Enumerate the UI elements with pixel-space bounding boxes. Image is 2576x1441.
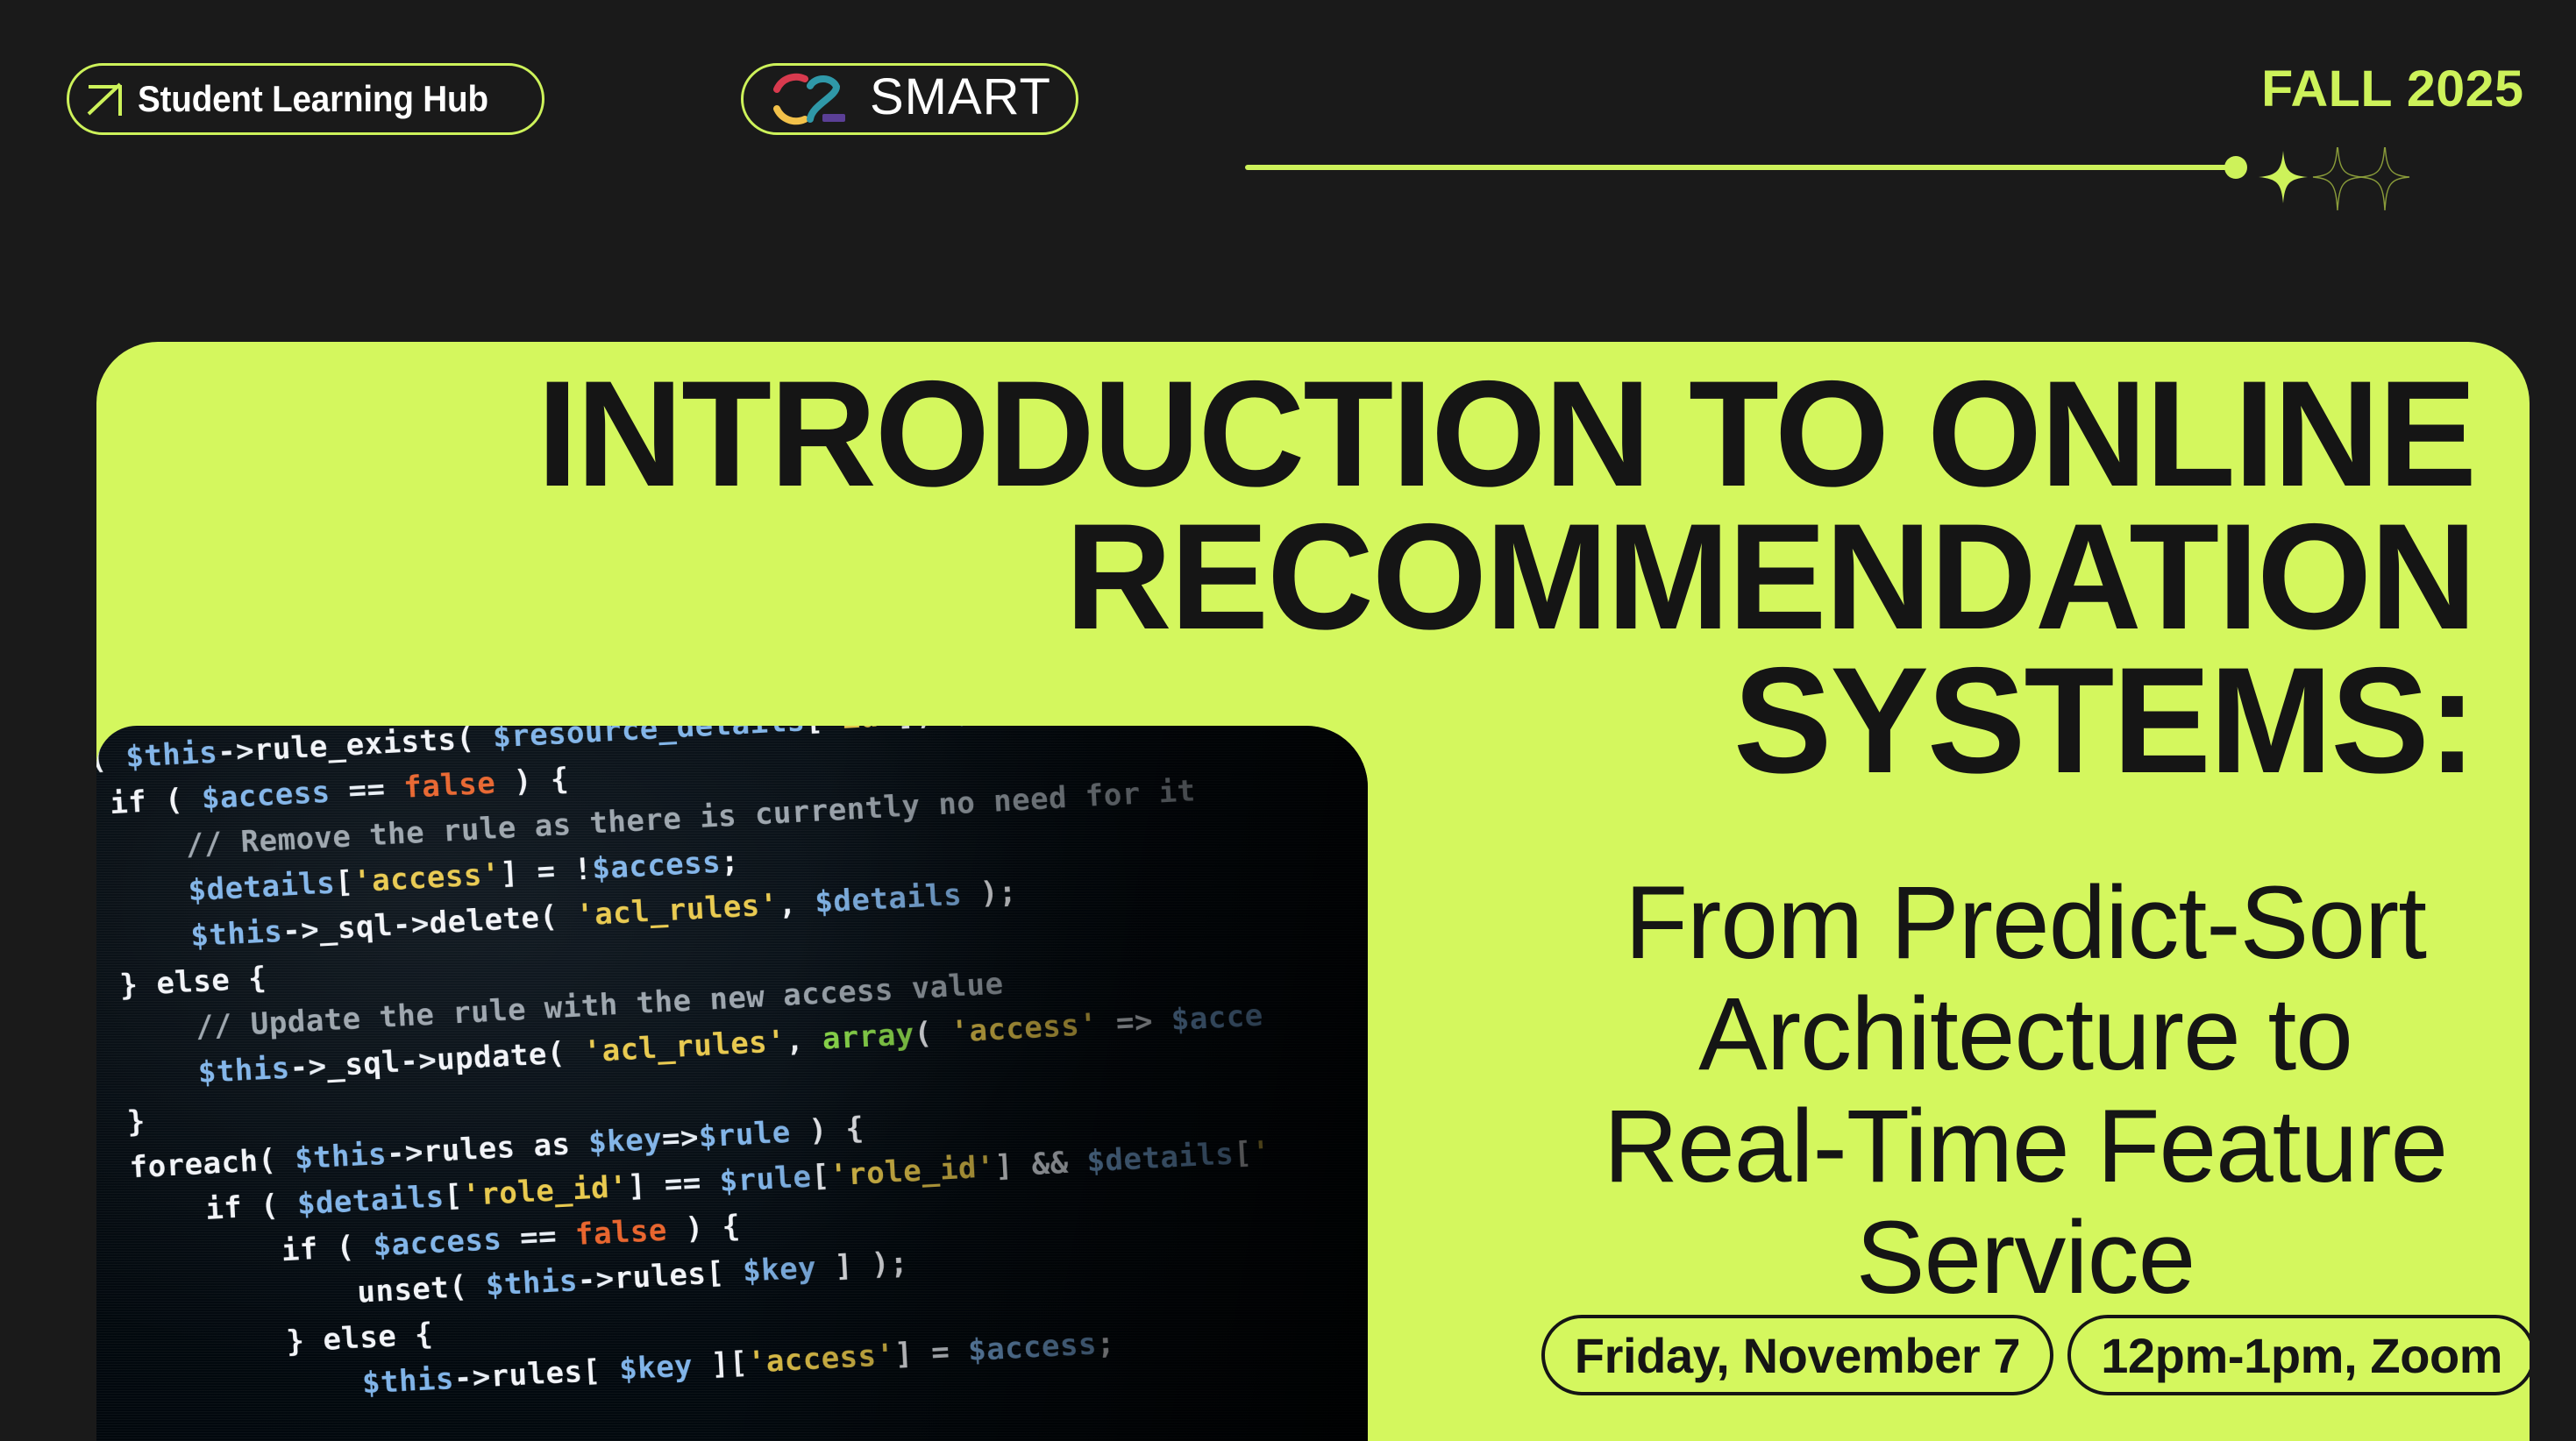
code-token: ] xyxy=(994,1147,1033,1184)
code-token: == xyxy=(519,1218,558,1255)
code-token: [ xyxy=(810,1158,830,1194)
code-token: rules xyxy=(490,1354,584,1395)
code-token: array xyxy=(822,1017,915,1057)
page-subtitle: From Predict-SortArchitecture toReal-Tim… xyxy=(1469,868,2530,1315)
sparkles-group xyxy=(2253,147,2420,217)
code-token xyxy=(701,1164,721,1200)
page-subtitle-line: From Predict-Sort xyxy=(1625,865,2426,981)
code-token: $details xyxy=(1085,1137,1235,1180)
sparkle-outline-icon xyxy=(2313,147,2362,210)
event-time-location-badge[interactable]: 12pm-1pm, Zoom xyxy=(2067,1315,2530,1395)
code-token: 'access' xyxy=(950,1007,1099,1050)
code-token: } else { xyxy=(96,961,267,1008)
code-token: == xyxy=(664,1165,702,1202)
code-token: if ( xyxy=(96,740,126,780)
code-token: $this xyxy=(189,914,283,955)
code-token: $this xyxy=(197,1051,291,1091)
code-token: ] xyxy=(500,855,538,891)
code-token: $key xyxy=(618,1348,694,1387)
code-token: ' xyxy=(1251,1134,1271,1170)
page-title-line: SYSTEMS: xyxy=(1733,636,2475,805)
code-token: = xyxy=(930,1334,950,1370)
code-token: -> xyxy=(289,1048,328,1085)
sparkle-outline-icon xyxy=(2360,147,2409,210)
code-token: $rule xyxy=(698,1115,792,1155)
code-token: ) { xyxy=(790,1111,865,1149)
page-subtitle-line: Service xyxy=(1856,1200,2195,1316)
code-token: ( xyxy=(914,1015,952,1052)
code-token: ); xyxy=(961,874,1018,912)
code-token: $details xyxy=(188,866,337,909)
poster-header: Student Learning Hub SMART FALL 2025 xyxy=(0,0,2576,202)
code-token: 'access' xyxy=(747,1338,896,1381)
code-token: $details xyxy=(296,1179,445,1222)
code-token: , xyxy=(785,1022,823,1059)
code-token: -> xyxy=(392,906,431,943)
code-token xyxy=(96,1055,199,1098)
page-title: INTRODUCTION TO ONLINERECOMMENDATIONSYST… xyxy=(173,363,2475,792)
code-token xyxy=(556,1217,576,1253)
code-token xyxy=(1152,1003,1172,1039)
code-token: && xyxy=(1031,1146,1070,1182)
code-token: -> xyxy=(453,1359,492,1396)
code-token: _sql xyxy=(318,908,394,947)
code-token: 'acl_rules' xyxy=(583,1024,786,1069)
event-card: 'resource_id' => $role_details['id'], );… xyxy=(96,342,2530,1441)
code-token: update( xyxy=(436,1034,585,1077)
code-token: -> xyxy=(386,1135,424,1172)
c2smart-badge[interactable]: SMART xyxy=(741,63,1078,135)
season-label: FALL 2025 xyxy=(2261,60,2523,118)
code-token: foreach( xyxy=(96,1141,295,1189)
code-token xyxy=(96,874,189,917)
code-token: = xyxy=(536,854,556,890)
arrow-up-right-icon xyxy=(85,79,125,119)
code-token: $this xyxy=(294,1137,388,1177)
code-token: ] xyxy=(893,1336,932,1373)
event-meta-row: Friday, November 7 12pm-1pm, Zoom xyxy=(1469,1315,2530,1395)
code-token: $acce xyxy=(1171,997,1264,1038)
code-token: -> xyxy=(577,1261,616,1298)
code-token: -> xyxy=(399,1043,438,1080)
code-token: -> xyxy=(281,912,320,949)
code-token: ) { xyxy=(666,1209,742,1247)
dot-icon xyxy=(2224,156,2247,179)
code-token: $details xyxy=(814,877,963,920)
code-token: false xyxy=(574,1213,668,1253)
code-token: [ xyxy=(581,1352,620,1389)
event-date-badge[interactable]: Friday, November 7 xyxy=(1541,1315,2053,1395)
code-token: 'role_id' xyxy=(461,1169,629,1213)
code-token xyxy=(96,1366,363,1417)
header-connector-line xyxy=(1245,165,2236,170)
code-token: => xyxy=(661,1120,700,1157)
code-token: ! xyxy=(554,852,593,889)
code-token xyxy=(949,1333,969,1369)
code-token: ; xyxy=(720,844,740,880)
code-token xyxy=(1097,1006,1117,1042)
code-token: ][ xyxy=(692,1345,749,1383)
code-token: ; xyxy=(1096,1325,1116,1361)
code-token xyxy=(501,1221,521,1257)
c2smart-wordmark: SMART xyxy=(870,72,1051,123)
code-token: [ xyxy=(443,1178,463,1214)
code-token: $access xyxy=(591,845,722,887)
code-token: [ xyxy=(334,864,354,900)
code-token xyxy=(96,919,192,962)
code-token: if ( xyxy=(96,1187,298,1235)
code-token: $this xyxy=(485,1263,579,1303)
page-subtitle-line: Real-Time Feature xyxy=(1604,1089,2447,1204)
code-token: $this xyxy=(361,1361,455,1402)
code-token: as xyxy=(514,1125,589,1164)
code-token: $key xyxy=(587,1122,663,1161)
code-token: $key xyxy=(742,1250,817,1288)
code-token: rules xyxy=(423,1130,516,1170)
code-photo-text: 'resource_id' => $role_details['id'], );… xyxy=(96,726,1368,1423)
code-token: , xyxy=(778,885,816,922)
code-token: 'access' xyxy=(352,856,502,899)
sparkle-filled-icon xyxy=(2259,151,2308,203)
code-token: _sql xyxy=(325,1045,401,1083)
code-token: [ xyxy=(705,1254,744,1291)
student-learning-hub-badge[interactable]: Student Learning Hub xyxy=(67,63,544,135)
code-token: 'role_id' xyxy=(829,1149,996,1193)
student-learning-hub-label: Student Learning Hub xyxy=(138,78,488,120)
c2-logo-icon xyxy=(768,70,866,128)
code-photo: 'resource_id' => $role_details['id'], );… xyxy=(96,726,1368,1441)
code-token: } xyxy=(96,1104,146,1145)
code-token: $access xyxy=(373,1222,503,1264)
code-token: $access xyxy=(967,1326,1098,1368)
code-token: ] ); xyxy=(815,1246,909,1286)
code-token: $rule xyxy=(719,1160,813,1200)
code-token: [ xyxy=(1233,1135,1253,1171)
code-token: => xyxy=(1115,1004,1154,1040)
code-token: ] xyxy=(627,1168,665,1204)
page-subtitle-line: Architecture to xyxy=(1698,976,2352,1092)
code-token: 'acl_rules' xyxy=(575,887,779,933)
code-token: rules xyxy=(614,1256,708,1296)
code-token: delete( xyxy=(429,898,578,941)
code-token xyxy=(1068,1145,1088,1181)
